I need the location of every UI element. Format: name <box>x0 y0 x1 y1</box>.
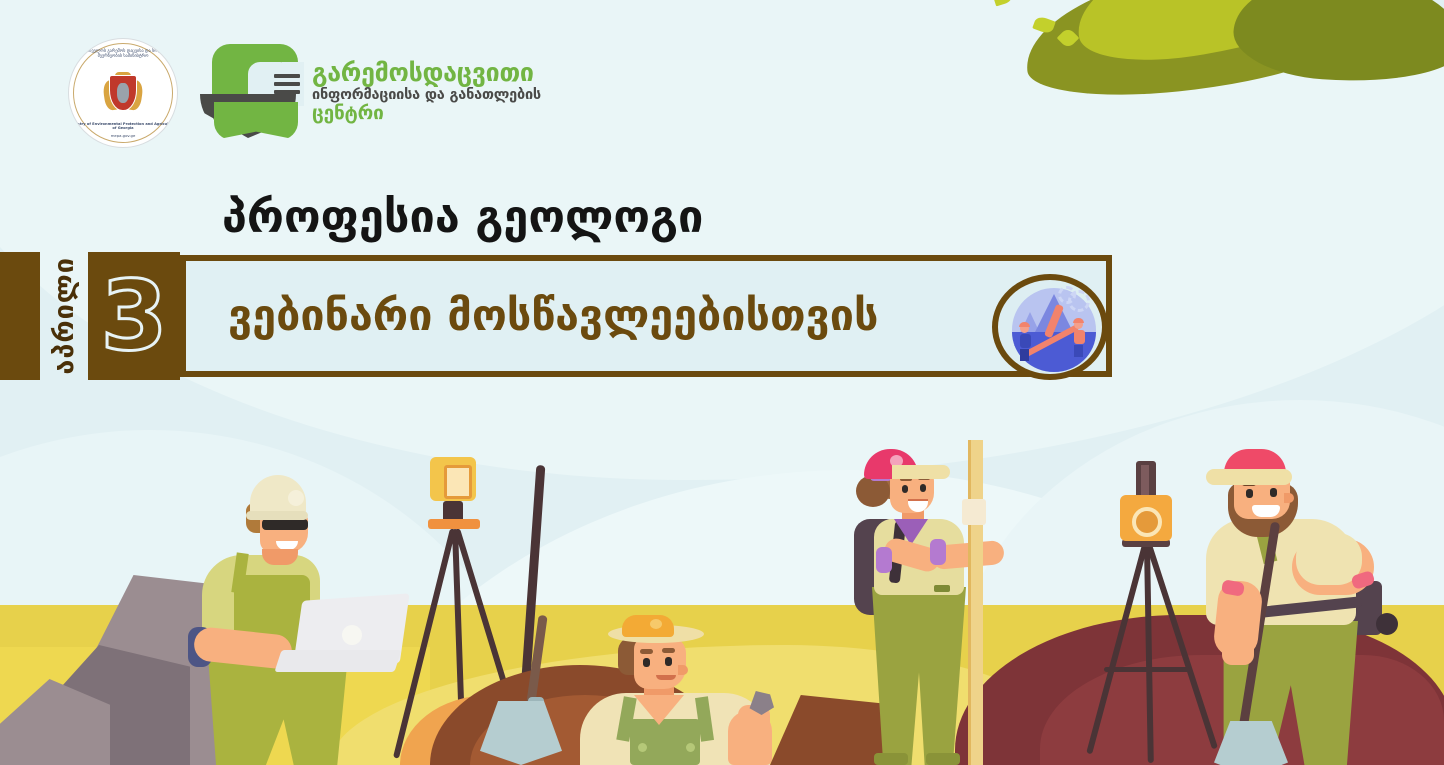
emblem-site-text: mepa.gov.ge <box>69 134 177 139</box>
eye <box>643 658 650 667</box>
tripod-plate <box>428 519 480 529</box>
leveling-staff-icon <box>968 440 983 765</box>
month-label: აპრილი <box>49 257 80 375</box>
tripod-leg <box>1086 544 1148 754</box>
sunglasses-icon <box>262 519 308 530</box>
open-book-square-logo-icon <box>206 44 302 140</box>
brand-line-3: ცენტრი <box>312 104 541 124</box>
tool-pouch-detail <box>1376 613 1398 635</box>
illustration-scene <box>0 365 1444 765</box>
geologist-figure-icon <box>1074 320 1084 354</box>
month-label-container: აპრილი <box>42 252 86 380</box>
sleeve-cuff <box>930 539 946 565</box>
hard-hat-brim <box>246 511 308 520</box>
chin <box>262 549 298 565</box>
eye <box>1246 489 1253 498</box>
geologist-with-shovel <box>1200 435 1444 765</box>
page-title: პროფესია გეოლოგი <box>222 190 703 243</box>
ribbon-bar: აპრილი 3 ვებინარი მოსწავლეებისთვის <box>0 252 1120 380</box>
mouth <box>656 675 676 680</box>
brand-line-1: გარემოსდაცვითი <box>312 60 541 86</box>
gear-icon <box>1058 286 1076 304</box>
overall-button <box>686 743 695 752</box>
geologist-with-survey-staff <box>838 435 1038 765</box>
government-emblem-icon: საქართველოს გარემოს დაცვისა და სოფლის მე… <box>68 38 178 148</box>
laptop-keyboard <box>274 650 401 672</box>
mouth <box>1252 505 1280 517</box>
tripod-leg <box>1144 545 1154 763</box>
subtitle-box: ვებინარი მოსწავლეებისთვის <box>180 255 1112 377</box>
eye <box>665 657 672 666</box>
staff-marker <box>962 499 986 525</box>
theodolite-lens <box>1132 507 1162 537</box>
brand-logo: გარემოსდაცვითი ინფორმაციისა და განათლები… <box>206 44 541 140</box>
shoe <box>926 753 960 765</box>
episode-number-block: 3 <box>88 252 180 380</box>
saint-george-figure-icon <box>117 83 129 103</box>
eyebrow <box>640 649 653 654</box>
surveying-tripod-right <box>1080 455 1220 755</box>
pants <box>872 587 966 765</box>
eyebrow <box>662 648 675 653</box>
emblem-caption-en: Ministry of Environmental Protection and… <box>69 122 177 131</box>
hand <box>1222 635 1254 665</box>
eye <box>1270 488 1277 497</box>
helmet-lamp-icon <box>288 490 304 506</box>
hat-button <box>650 619 662 629</box>
overall-button <box>638 743 647 752</box>
eye <box>902 485 908 493</box>
banner-stage: საქართველოს გარემოს დაცვისა და სოფლის მე… <box>0 0 1444 765</box>
laptop-logo <box>342 625 362 645</box>
emblem-arc-text: საქართველოს გარემოს დაცვისა და სოფლის მე… <box>68 48 178 58</box>
hat-crown <box>622 615 674 637</box>
brand-text: გარემოსდაცვითი ინფორმაციისა და განათლები… <box>312 60 541 124</box>
geologist-figure-icon <box>1020 324 1030 358</box>
eye <box>920 484 926 492</box>
theodolite-screen <box>444 465 472 499</box>
episode-number: 3 <box>101 268 168 364</box>
tripod-neck-inner <box>1141 465 1149 497</box>
cap-brim <box>892 465 950 479</box>
face <box>634 637 686 689</box>
cap-brim <box>1206 469 1292 485</box>
belt-clip <box>934 585 950 592</box>
shovel-blade <box>480 701 562 765</box>
overall-bib <box>630 719 700 765</box>
ribbon-left-tab <box>0 252 40 380</box>
nose <box>1284 493 1294 503</box>
subtitle-text: ვებინარი მოსწავლეებისთვის <box>228 291 878 341</box>
nose <box>678 665 688 675</box>
tripod-crossbar <box>1104 667 1190 672</box>
tree-foliage-icon <box>1004 0 1444 130</box>
sleeve-cuff <box>876 547 892 573</box>
brand-line-2: ინფორმაციისა და განათლების <box>312 88 541 103</box>
shoe <box>874 753 908 765</box>
